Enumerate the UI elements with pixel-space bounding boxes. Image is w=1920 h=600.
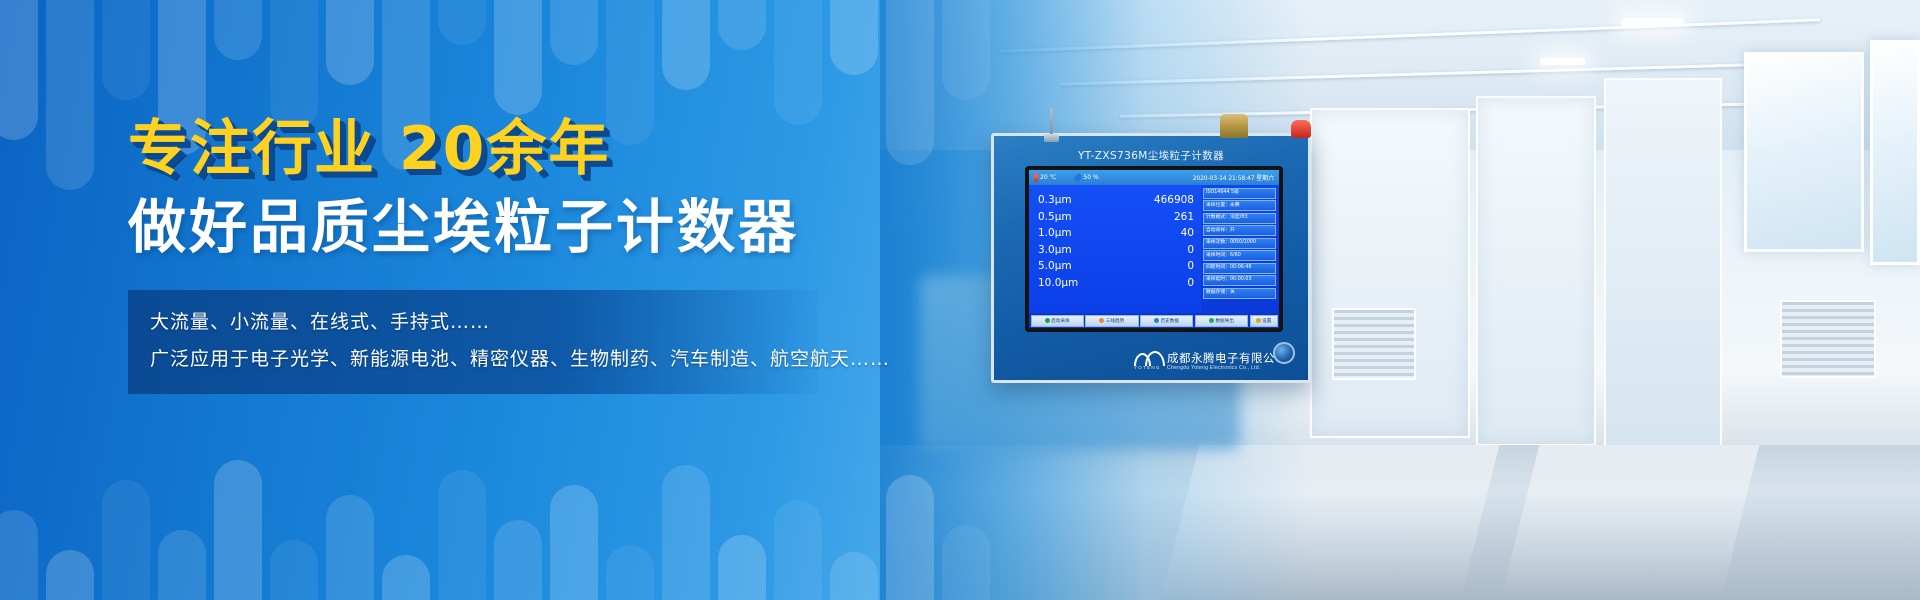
thermometer-icon bbox=[1034, 173, 1038, 182]
temperature-reading: 20 ℃ bbox=[1034, 173, 1056, 182]
sampling-nozzle bbox=[1220, 114, 1248, 138]
wall-panel bbox=[1476, 96, 1596, 446]
button-label: 数据导出 bbox=[1215, 318, 1233, 324]
particle-size: 10.0μm bbox=[1038, 275, 1078, 292]
button-label: 历史数据 bbox=[1161, 318, 1179, 324]
particle-size: 1.0μm bbox=[1038, 225, 1072, 242]
corridor-window bbox=[1870, 40, 1920, 265]
hero-banner: 专注行业 20余年 做好品质尘埃粒子计数器 大流量、小流量、在线式、手持式…… … bbox=[0, 0, 1920, 600]
history-icon bbox=[1154, 318, 1159, 323]
particle-size: 0.5μm bbox=[1038, 209, 1072, 226]
device-screen-bezel: 20 ℃ 50 % 2020-03-14 21:58:47 星期六 0.3μm bbox=[1025, 166, 1283, 332]
subtitle-line-1: 大流量、小流量、在线式、手持式…… bbox=[150, 304, 796, 341]
power-button[interactable] bbox=[1273, 342, 1295, 364]
particle-size: 0.3μm bbox=[1038, 192, 1072, 209]
button-label: 启动采样 bbox=[1051, 318, 1069, 324]
screen-status-bar: 20 ℃ 50 % 2020-03-14 21:58:47 星期六 bbox=[1029, 170, 1279, 185]
export-data-button[interactable]: 数据导出 bbox=[1195, 315, 1248, 327]
device-branding: YOTENG 成都永腾电子有限公司 Chengdu Yoteng Electro… bbox=[1134, 352, 1287, 371]
trend-chart-button[interactable]: 三线趋势 bbox=[1085, 315, 1138, 327]
wall-panel bbox=[1310, 108, 1470, 438]
wall-vent-grille bbox=[1332, 308, 1416, 380]
parameter-item: 采样时间：6/60 bbox=[1203, 250, 1276, 261]
device-screen: 20 ℃ 50 % 2020-03-14 21:58:47 星期六 0.3μm bbox=[1029, 170, 1279, 328]
humidity-reading: 50 % bbox=[1075, 174, 1098, 182]
datetime-display: 2020-03-14 21:58:47 星期六 bbox=[1193, 173, 1274, 182]
temperature-unit: ℃ bbox=[1050, 174, 1057, 181]
table-row: 1.0μm 40 bbox=[1038, 225, 1194, 242]
export-icon bbox=[1209, 318, 1214, 323]
logo-wordmark: YOTENG bbox=[1134, 365, 1162, 370]
water-drop-icon bbox=[1073, 173, 1083, 183]
corridor-window bbox=[1744, 52, 1864, 252]
table-row: 0.5μm 261 bbox=[1038, 209, 1194, 226]
parameter-item: 采样位置：永腾 bbox=[1203, 200, 1276, 211]
temperature-value: 20 bbox=[1040, 174, 1048, 181]
headline-secondary: 做好品质尘埃粒子计数器 bbox=[128, 195, 888, 260]
parameter-item: 采样延时：00:00:03 bbox=[1203, 275, 1276, 286]
particle-count: 0 bbox=[1187, 242, 1194, 259]
device-model-title: YT-ZXS736M尘埃粒子计数器 bbox=[994, 148, 1308, 163]
particle-count: 0 bbox=[1187, 275, 1194, 292]
parameter-item: 数据存储：关 bbox=[1203, 288, 1276, 299]
particle-size: 5.0μm bbox=[1038, 258, 1072, 275]
subtitle-line-2: 广泛应用于电子光学、新能源电池、精密仪器、生物制药、汽车制造、航空航天…… bbox=[150, 341, 796, 378]
table-row: 10.0μm 0 bbox=[1038, 275, 1194, 292]
parameter-panel: ISO14644 5级 采样位置：永腾 计数模式：浓度/ft3 自动采样：开 采… bbox=[1201, 185, 1279, 313]
table-row: 0.3μm 466908 bbox=[1038, 192, 1194, 209]
table-row: 3.0μm 0 bbox=[1038, 242, 1194, 259]
particle-size: 3.0μm bbox=[1038, 242, 1072, 259]
particle-counter-device: YT-ZXS736M尘埃粒子计数器 20 ℃ 50 % 2020-03-14 2… bbox=[991, 133, 1311, 383]
settings-button[interactable]: 设置 bbox=[1250, 315, 1278, 327]
parameter-item: ISO14644 5级 bbox=[1203, 188, 1276, 199]
floor-reflection bbox=[1501, 445, 1760, 600]
brand-name-cn: 成都永腾电子有限公司 bbox=[1167, 352, 1287, 365]
particle-count: 0 bbox=[1187, 258, 1194, 275]
parameter-item: 采样次数：0050/1000 bbox=[1203, 238, 1276, 249]
screen-button-bar: 启动采样 三线趋势 历史数据 数据导出 bbox=[1029, 313, 1279, 328]
wall-vent-grille bbox=[1780, 300, 1876, 378]
trend-icon bbox=[1099, 318, 1104, 323]
parameter-item: 自动采样：开 bbox=[1203, 225, 1276, 236]
humidity-unit: % bbox=[1093, 174, 1099, 181]
particle-count: 466908 bbox=[1154, 192, 1194, 209]
button-label: 设置 bbox=[1262, 318, 1271, 324]
button-label: 三线趋势 bbox=[1106, 318, 1124, 324]
decorative-bars-bottom bbox=[0, 390, 1010, 600]
ceiling-lamp-icon bbox=[1622, 18, 1684, 27]
brand-name-en: Chengdu Yoteng Electronics Co., Ltd. bbox=[1167, 365, 1287, 371]
particle-count: 261 bbox=[1174, 209, 1194, 226]
table-row: 5.0μm 0 bbox=[1038, 258, 1194, 275]
ceiling-lamp-icon bbox=[1540, 58, 1586, 65]
banner-copy: 专注行业 20余年 做好品质尘埃粒子计数器 bbox=[128, 118, 888, 260]
start-sampling-button[interactable]: 启动采样 bbox=[1031, 315, 1084, 327]
subtitle-band: 大流量、小流量、在线式、手持式…… 广泛应用于电子光学、新能源电池、精密仪器、生… bbox=[128, 290, 818, 394]
parameter-item: 计数模式：浓度/ft3 bbox=[1203, 213, 1276, 224]
particle-count: 40 bbox=[1181, 225, 1194, 242]
parameter-item: 间歇时间：00:06:46 bbox=[1203, 263, 1276, 274]
gear-icon bbox=[1256, 318, 1261, 323]
particle-readout-table: 0.3μm 466908 0.5μm 261 1.0μm 40 3.0μm bbox=[1029, 185, 1201, 313]
screen-body: 0.3μm 466908 0.5μm 261 1.0μm 40 3.0μm bbox=[1029, 185, 1279, 313]
antenna-base bbox=[1044, 134, 1059, 142]
history-data-button[interactable]: 历史数据 bbox=[1140, 315, 1193, 327]
humidity-value: 50 bbox=[1083, 174, 1091, 181]
yoteng-logo-icon: YOTENG bbox=[1134, 353, 1162, 370]
corridor-door bbox=[1604, 78, 1722, 460]
alarm-beacon-icon bbox=[1291, 120, 1311, 138]
headline-primary: 专注行业 20余年 bbox=[128, 118, 888, 181]
start-icon bbox=[1045, 318, 1050, 323]
